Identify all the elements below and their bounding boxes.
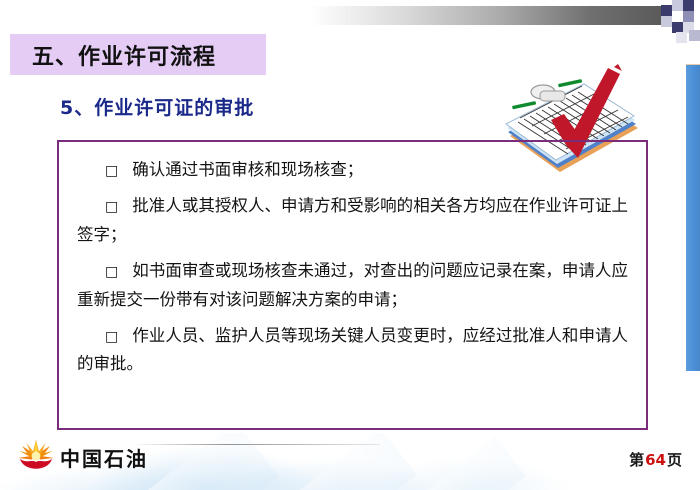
subtitle-text: 5、作业许可证的审批 [60, 93, 254, 120]
square-bullet-icon: □ [77, 329, 132, 345]
slide-canvas: 五、作业许可流程 5、作业许可证的审批 [0, 0, 700, 490]
checker-square [661, 5, 672, 16]
page-number: 第64页 [629, 449, 682, 470]
square-bullet-icon: □ [77, 163, 132, 179]
section-title-banner: 五、作业许可流程 [10, 34, 266, 75]
content-box: □确认通过书面审核和现场核查； □批准人或其授权人、申请方和受影响的相关各方均应… [57, 140, 648, 430]
list-item: □确认通过书面审核和现场核查； [77, 156, 628, 184]
section-title-text: 五、作业许可流程 [10, 39, 216, 71]
square-bullet-icon: □ [77, 199, 132, 215]
checker-square [676, 32, 687, 43]
checker-square [689, 30, 700, 41]
list-item: □作业人员、监护人员等现场关键人员变更时，应经过批准人和申请人的审批。 [77, 322, 628, 379]
checker-square [683, 11, 694, 22]
page-prefix: 第 [629, 451, 644, 469]
list-item-text: 批准人或其授权人、申请方和受影响的相关各方均应在作业许可证上签字； [77, 196, 628, 243]
footer-divider-line [130, 444, 380, 445]
right-accent-bar [686, 64, 700, 371]
checker-square [672, 0, 683, 11]
list-item-text: 如书面审查或现场核查未通过，对查出的问题应记录在案，申请人应重新提交一份带有对该… [77, 261, 628, 308]
brand-name: 中国石油 [60, 443, 148, 472]
page-suffix: 页 [667, 451, 682, 469]
header-gradient-bar [310, 6, 662, 25]
petrochina-sunburst-logo-icon [16, 438, 56, 476]
checker-square [683, 0, 694, 11]
list-item: □批准人或其授权人、申请方和受影响的相关各方均应在作业许可证上签字； [77, 192, 628, 249]
square-bullet-icon: □ [77, 264, 132, 280]
list-item: □如书面审查或现场核查未通过，对查出的问题应记录在案，申请人应重新提交一份带有对… [77, 257, 628, 314]
list-item-text: 确认通过书面审核和现场核查； [132, 160, 363, 179]
list-item-text: 作业人员、监护人员等现场关键人员变更时，应经过批准人和申请人的审批。 [77, 326, 628, 373]
checker-square [672, 11, 683, 22]
checker-square [661, 16, 672, 27]
page-number-value: 64 [644, 451, 667, 469]
